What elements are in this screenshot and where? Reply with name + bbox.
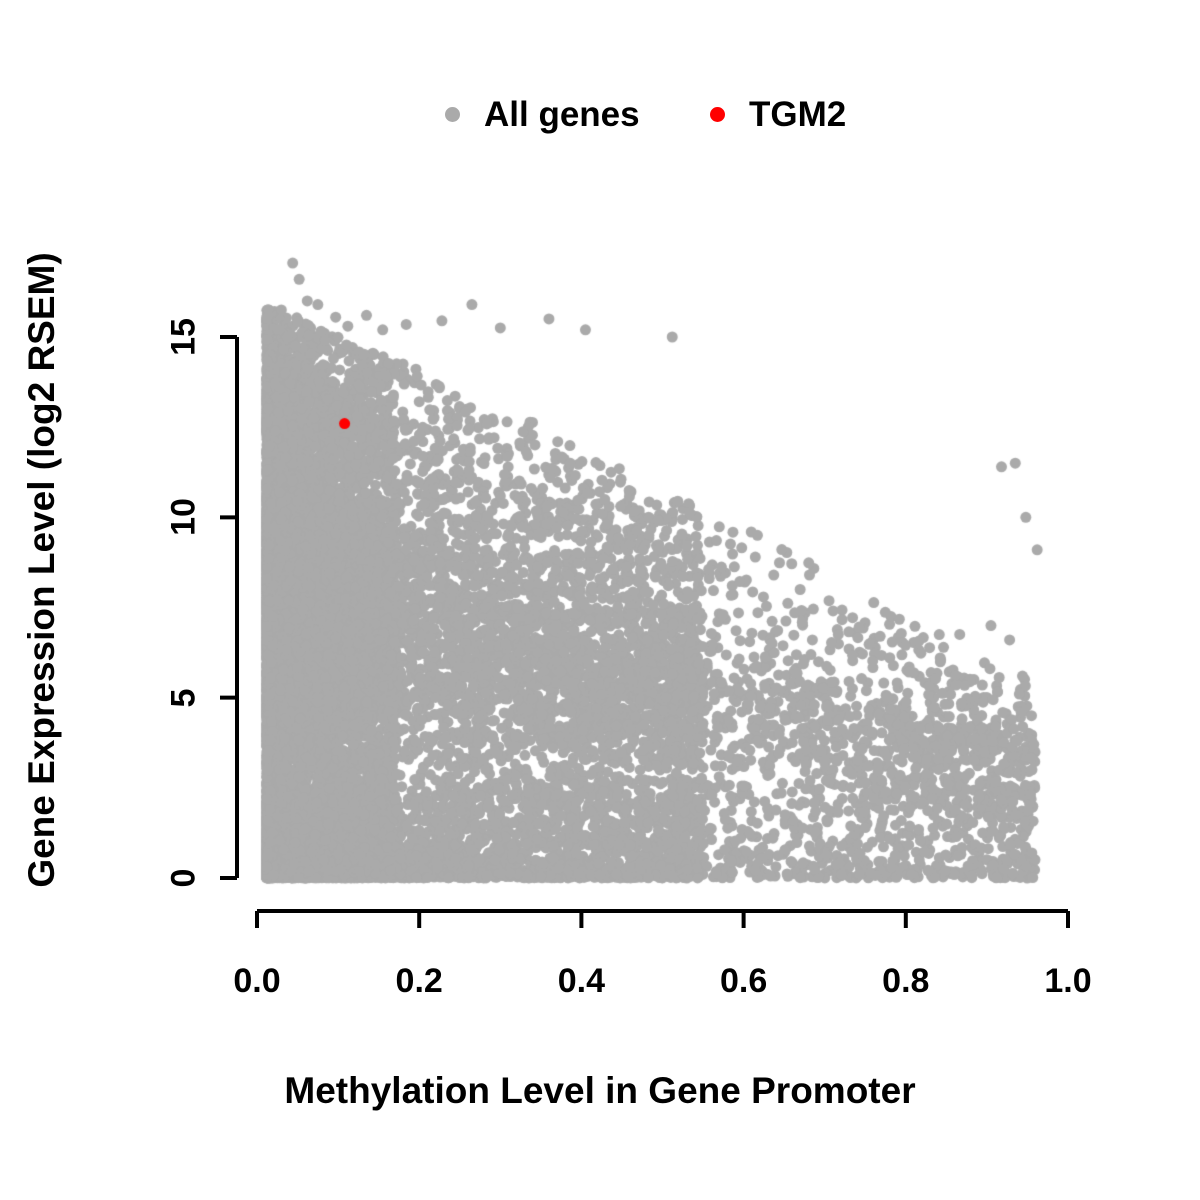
x-axis-title: Methylation Level in Gene Promoter — [0, 1070, 1200, 1112]
x-tick-label: 0.6 — [720, 962, 767, 1001]
x-tick-label: 0.0 — [233, 962, 280, 1001]
y-tick-label: 15 — [165, 318, 204, 356]
y-tick-label: 10 — [165, 498, 204, 536]
plot-area — [0, 0, 1200, 1200]
y-axis-title: Gene Expression Level (log2 RSEM) — [21, 252, 63, 887]
y-tick-label: 5 — [165, 688, 204, 707]
scatter-plot-figure: All genes TGM2 0.00.20.40.60.81.0051015 … — [0, 0, 1200, 1200]
x-tick-label: 0.4 — [558, 962, 605, 1001]
x-tick-label: 1.0 — [1044, 962, 1091, 1001]
y-tick-label: 0 — [165, 869, 204, 888]
axis-lines — [0, 0, 1200, 1200]
x-tick-label: 0.2 — [396, 962, 443, 1001]
x-tick-label: 0.8 — [882, 962, 929, 1001]
